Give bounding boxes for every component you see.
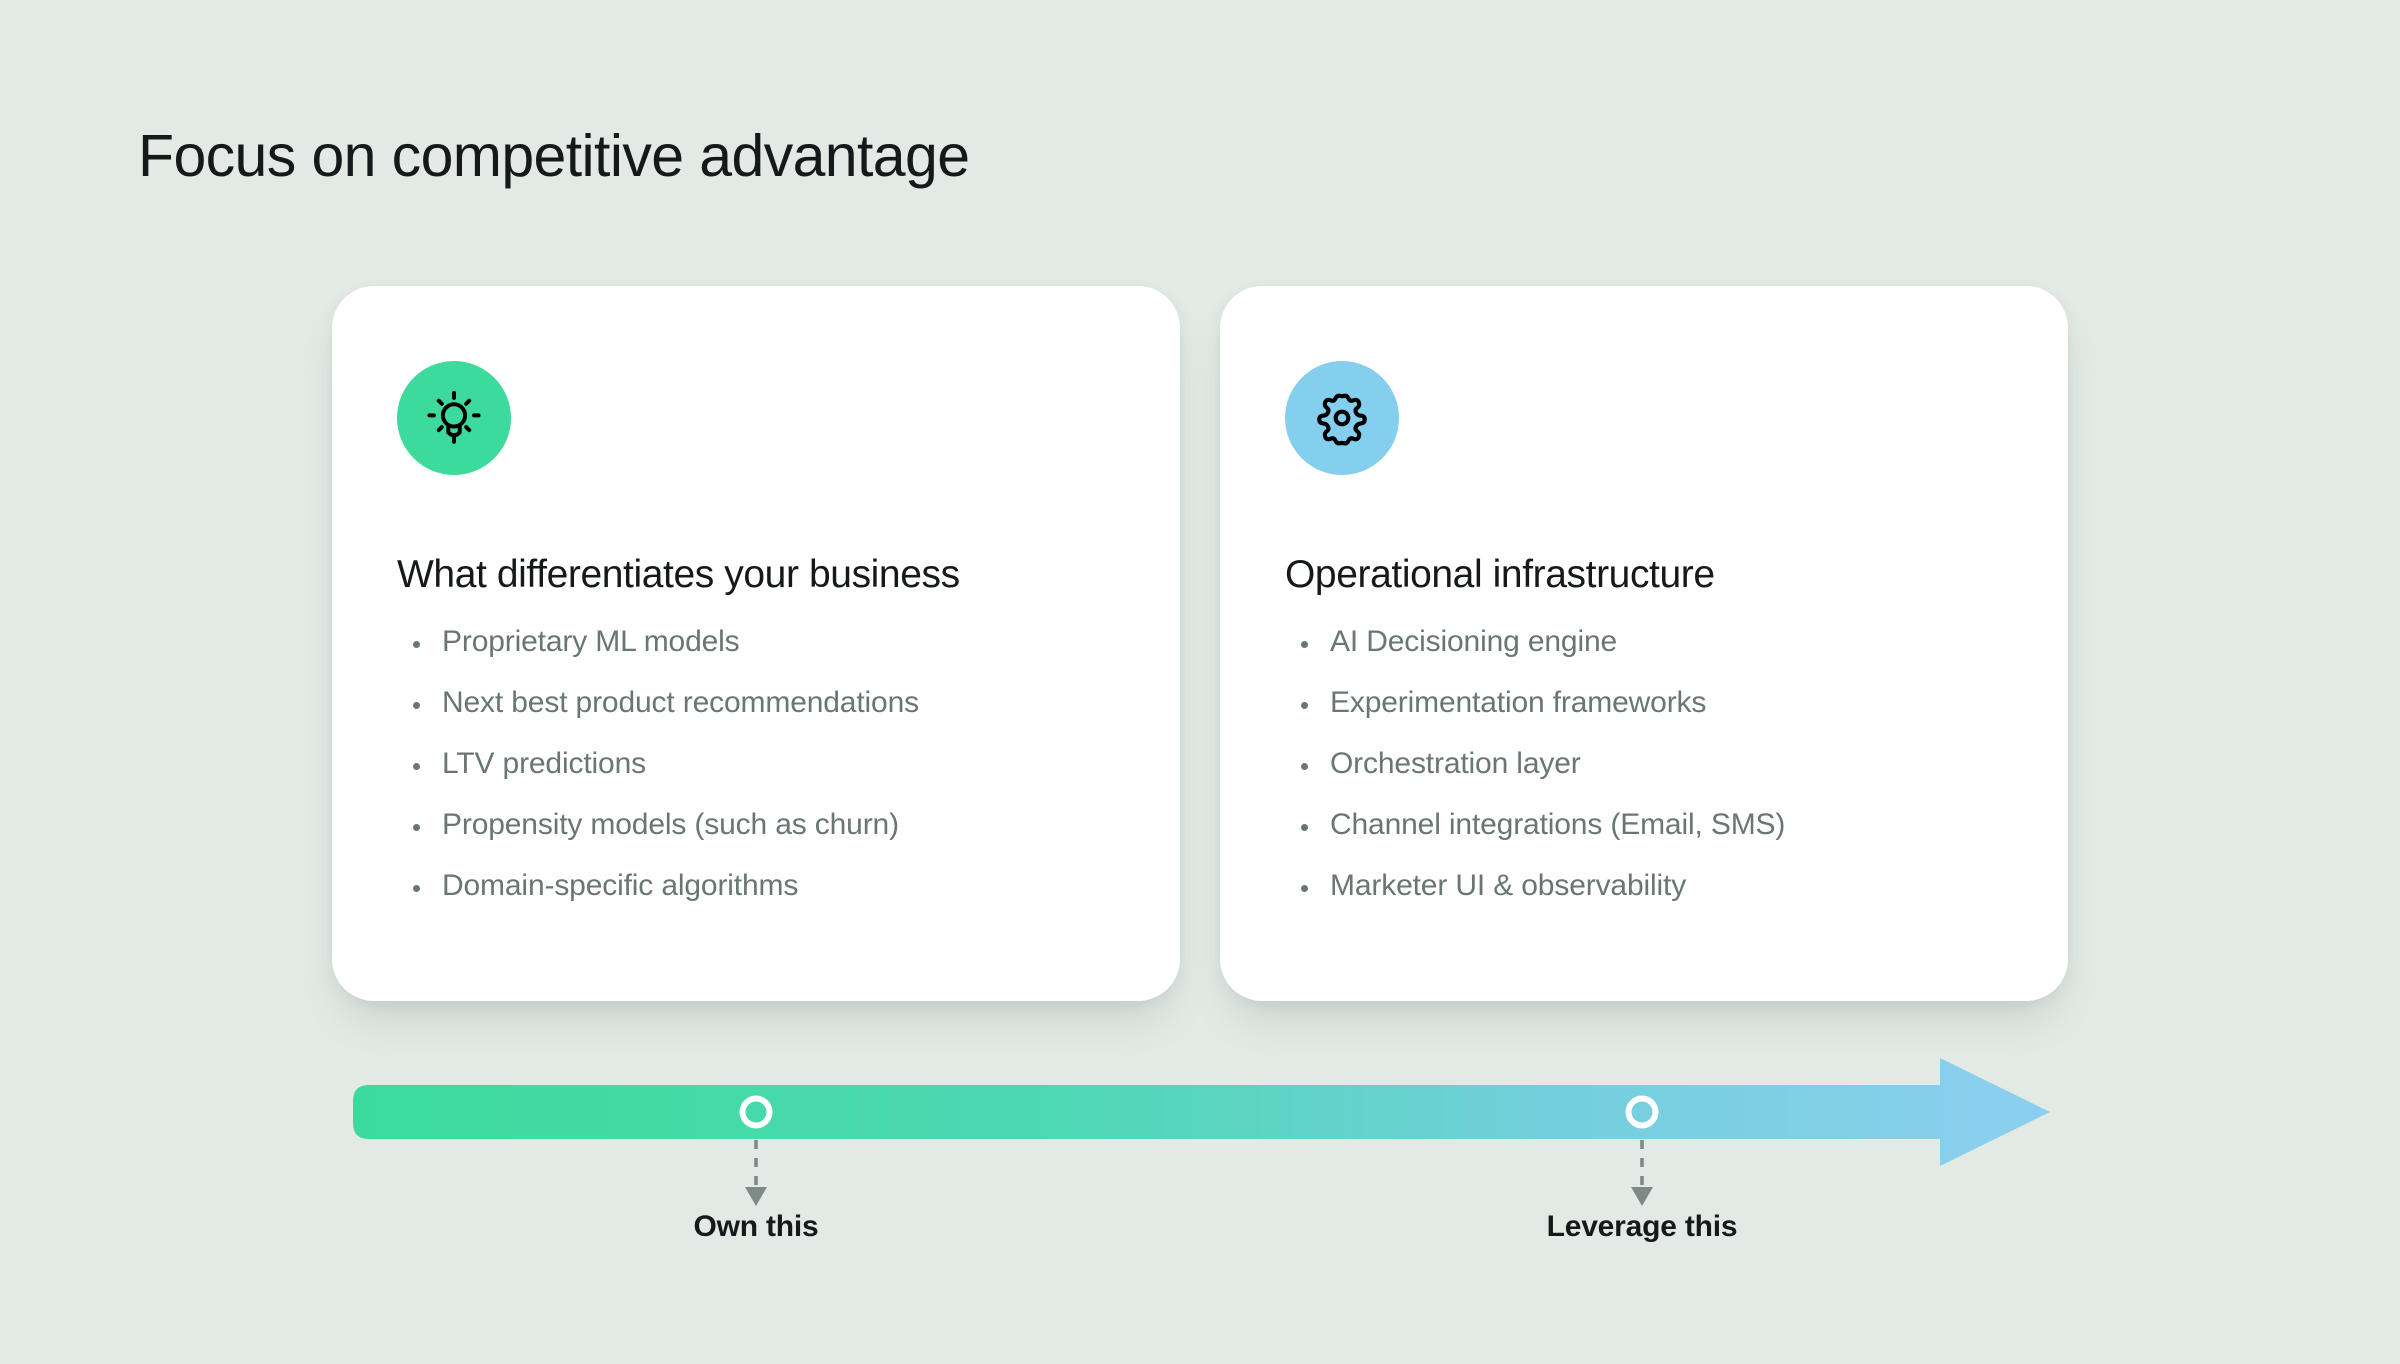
card-title: Operational infrastructure bbox=[1285, 553, 2068, 597]
cards-row: What differentiates your business Propri… bbox=[332, 286, 2068, 1001]
list-item: Proprietary ML models bbox=[397, 625, 1180, 659]
list-item: Next best product recommendations bbox=[397, 686, 1180, 720]
card-differentiators: What differentiates your business Propri… bbox=[332, 286, 1180, 1001]
list-item: Orchestration layer bbox=[1285, 747, 2068, 781]
marker-leverage-this-arrowhead-icon bbox=[1631, 1187, 1653, 1206]
spectrum-arrow bbox=[0, 1040, 2400, 1240]
marker-own-this-arrowhead-icon bbox=[745, 1187, 767, 1206]
list-item: AI Decisioning engine bbox=[1285, 625, 2068, 659]
card-infrastructure: Operational infrastructure AI Decisionin… bbox=[1220, 286, 2068, 1001]
slide: Focus on competitive advantage What d bbox=[0, 0, 2400, 1364]
axis-label-own-this: Own this bbox=[693, 1210, 818, 1244]
card-bullet-list: AI Decisioning engine Experimentation fr… bbox=[1285, 625, 2068, 903]
gradient-arrow-bar bbox=[353, 1058, 2050, 1166]
list-item: Propensity models (such as churn) bbox=[397, 808, 1180, 842]
list-item: Channel integrations (Email, SMS) bbox=[1285, 808, 2068, 842]
list-item: Domain-specific algorithms bbox=[397, 869, 1180, 903]
axis-label-leverage-this: Leverage this bbox=[1547, 1210, 1738, 1244]
gear-settings-icon bbox=[1285, 361, 1399, 475]
list-item: Marketer UI & observability bbox=[1285, 869, 2068, 903]
lightbulb-idea-icon bbox=[397, 361, 511, 475]
list-item: Experimentation frameworks bbox=[1285, 686, 2068, 720]
list-item: LTV predictions bbox=[397, 747, 1180, 781]
page-title: Focus on competitive advantage bbox=[138, 122, 969, 190]
card-title: What differentiates your business bbox=[397, 553, 1180, 597]
card-bullet-list: Proprietary ML models Next best product … bbox=[397, 625, 1180, 903]
